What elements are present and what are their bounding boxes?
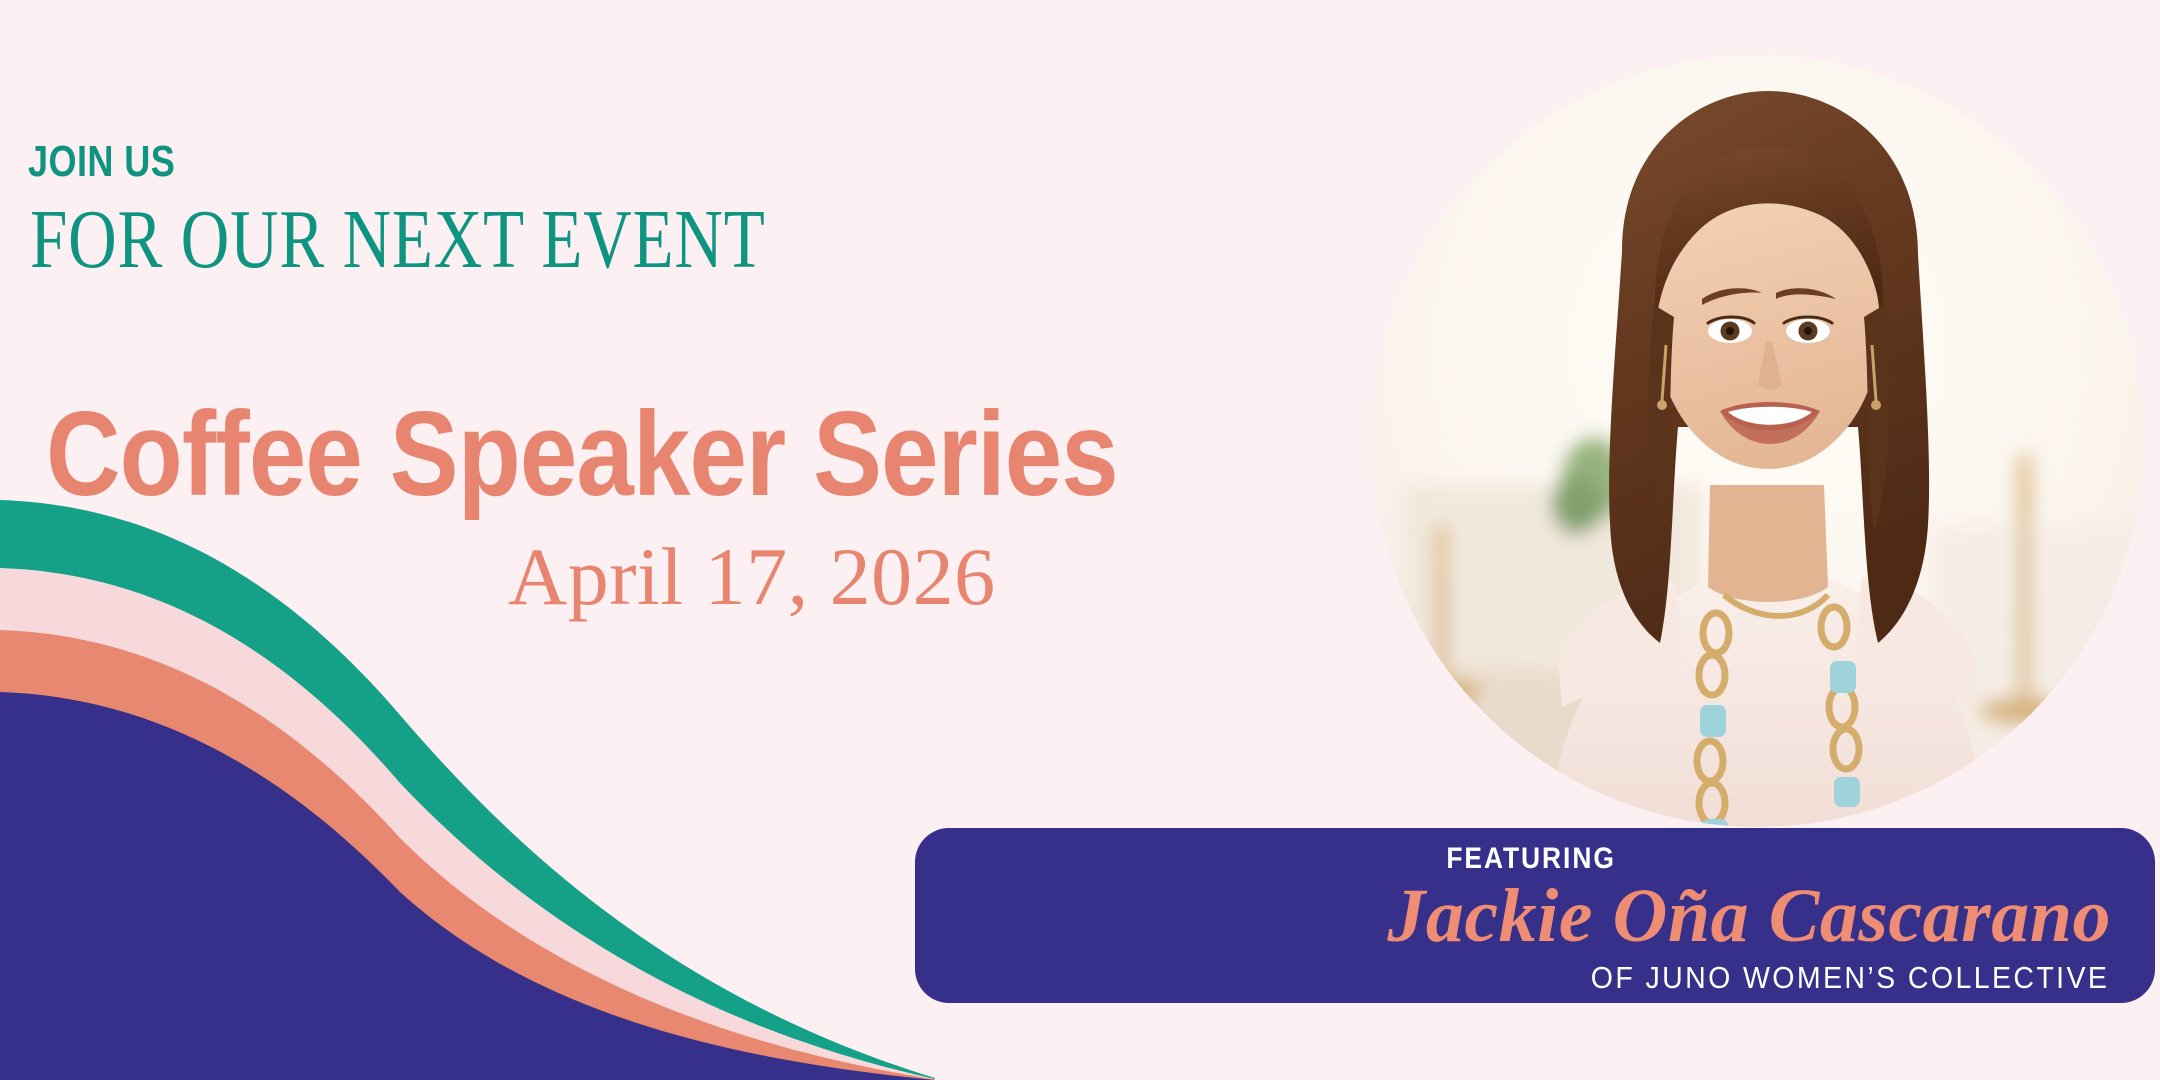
wave-band-coral bbox=[0, 630, 935, 1080]
event-title: Coffee Speaker Series bbox=[46, 394, 1063, 514]
event-date: April 17, 2026 bbox=[28, 536, 1228, 618]
featuring-badge: FEATURING Jackie Oña Cascarano OF JUNO W… bbox=[915, 828, 2155, 1003]
event-banner: JOIN US FOR OUR NEXT EVENT Coffee Speake… bbox=[0, 0, 2160, 1080]
subhead-for-our-next-event: FOR OUR NEXT EVENT bbox=[30, 196, 988, 284]
wave-band-navy bbox=[0, 692, 935, 1080]
eyebrow-join-us: JOIN US bbox=[28, 140, 1012, 184]
headline-block: JOIN US FOR OUR NEXT EVENT Coffee Speake… bbox=[28, 140, 1228, 618]
speaker-organization: OF JUNO WOMEN’S COLLECTIVE bbox=[1011, 962, 2113, 993]
featuring-label: FEATURING bbox=[1059, 844, 2113, 874]
speaker-name: Jackie Oña Cascarano bbox=[915, 878, 2113, 956]
speaker-portrait bbox=[1372, 55, 2144, 827]
portrait-illustration bbox=[1372, 55, 2144, 827]
speaker-neck bbox=[1708, 485, 1828, 602]
wave-band-blush bbox=[0, 568, 935, 1080]
